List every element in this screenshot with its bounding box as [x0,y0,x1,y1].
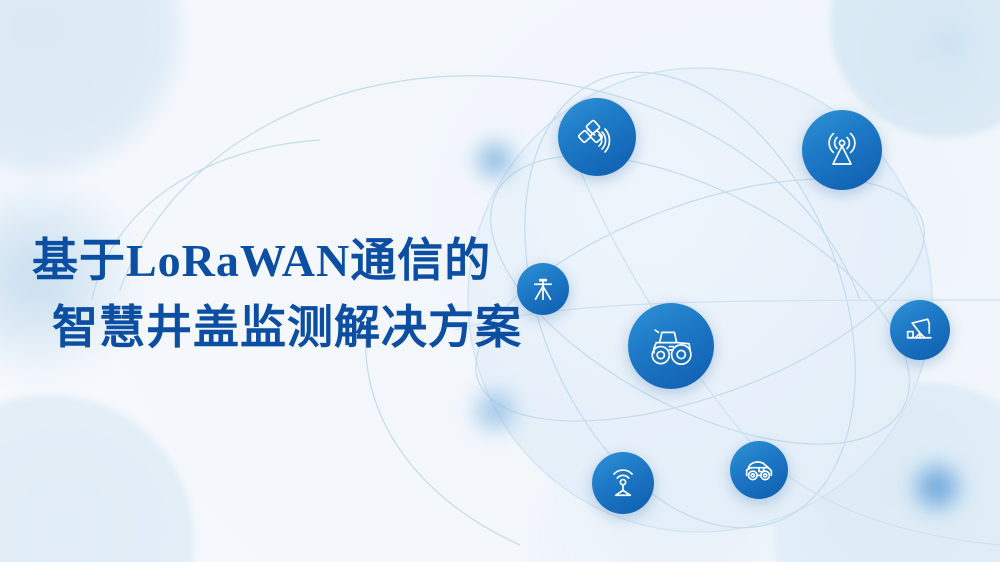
slide-canvas: 基于LoRaWAN通信的 智慧井盖监测解决方案 [0,0,1000,562]
oil-pumpjack-icon [903,313,937,347]
title-block: 基于LoRaWAN通信的 智慧井盖监测解决方案 [32,228,522,361]
decorative-blob-bottom-left [0,395,194,562]
accent-dot-top-right [938,30,964,56]
survey-tripod-icon [528,274,558,304]
signal-beacon-icon [605,465,641,501]
mining-truck-icon-node[interactable] [730,441,788,499]
radio-tower-icon [820,128,864,172]
title-line-2: 智慧井盖监测解决方案 [32,295,522,362]
decorative-blob-bottom-right [774,382,1000,562]
oil-pumpjack-icon-node[interactable] [890,300,950,360]
mining-truck-icon [742,453,776,487]
survey-tripod-icon-node[interactable] [517,263,569,315]
accent-dot-bottom-right [916,466,958,508]
tractor-icon [646,321,696,371]
accent-dot-upper-left [478,143,512,177]
satellite-icon-node[interactable] [558,98,636,176]
satellite-icon [575,115,619,159]
accent-dot-lower-left [476,392,514,430]
decorative-blob-top-left [0,0,187,179]
decorative-blob-bottom-right-2 [530,412,830,562]
signal-beacon-icon-node[interactable] [592,452,654,514]
radio-tower-icon-node[interactable] [802,110,882,190]
tractor-icon-node[interactable] [628,303,714,389]
title-line-1: 基于LoRaWAN通信的 [32,228,522,295]
